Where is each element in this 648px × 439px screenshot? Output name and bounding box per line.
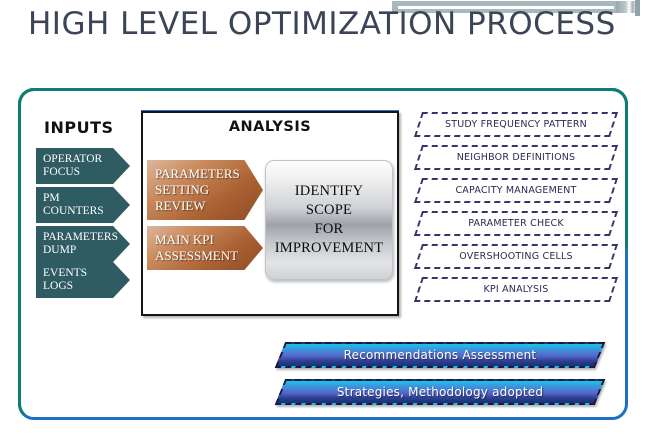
input-chip-line2: LOGS <box>43 280 116 293</box>
output-banner-strategies-methodology[interactable]: Strategies, Methodology adopted <box>275 379 606 405</box>
analysis-step-main-kpi-assessment[interactable]: MAIN KPI ASSESSMENT <box>147 226 263 270</box>
analysis-outcome-box[interactable]: IDENTIFY SCOPE FOR IMPROVEMENT <box>265 160 393 280</box>
input-chip-events-logs[interactable]: EVENTS LOGS <box>36 262 130 298</box>
checklist-item-label: OVERSHOOTING CELLS <box>420 246 612 267</box>
band-edge-cap <box>635 0 640 16</box>
input-chip-pm-counters[interactable]: PM COUNTERS <box>36 187 130 223</box>
input-chip-parameters-dump[interactable]: PARAMETERS DUMP <box>36 226 130 262</box>
analysis-step-line2: ASSESSMENT <box>155 248 245 264</box>
page-title: HIGH LEVEL OPTIMIZATION PROCESS <box>28 6 616 42</box>
checklist-item-label: KPI ANALYSIS <box>420 279 612 300</box>
analysis-step-line1: PARAMETERS <box>155 166 245 182</box>
outcome-line4: IMPROVEMENT <box>275 239 384 258</box>
checklist-item-label: PARAMETER CHECK <box>420 213 612 234</box>
analysis-step-parameters-setting-review[interactable]: PARAMETERS SETTING REVIEW <box>147 160 263 220</box>
checklist-item-study-frequency-pattern[interactable]: STUDY FREQUENCY PATTERN <box>414 112 618 137</box>
output-banner-label: Recommendations Assessment <box>282 344 598 366</box>
input-chip-line1: PM <box>43 192 116 205</box>
analysis-step-line3: REVIEW <box>155 198 245 214</box>
outcome-line1: IDENTIFY <box>275 182 384 201</box>
input-chip-line2: COUNTERS <box>43 205 116 218</box>
checklist-item-parameter-check[interactable]: PARAMETER CHECK <box>414 211 618 236</box>
input-chip-line1: OPERATOR <box>43 153 116 166</box>
analysis-outcome-text: IDENTIFY SCOPE FOR IMPROVEMENT <box>275 182 384 258</box>
outcome-line2: SCOPE <box>275 201 384 220</box>
input-chip-line2: DUMP <box>43 244 116 257</box>
checklist-item-capacity-management[interactable]: CAPACITY MANAGEMENT <box>414 178 618 203</box>
checklist-item-overshooting-cells[interactable]: OVERSHOOTING CELLS <box>414 244 618 269</box>
checklist-item-neighbor-definitions[interactable]: NEIGHBOR DEFINITIONS <box>414 145 618 170</box>
analysis-step-line2: SETTING <box>155 182 245 198</box>
output-banner-recommendations-assessment[interactable]: Recommendations Assessment <box>275 342 606 368</box>
checklist-item-label: STUDY FREQUENCY PATTERN <box>420 114 612 135</box>
checklist-item-label: NEIGHBOR DEFINITIONS <box>420 147 612 168</box>
checklist-item-kpi-analysis[interactable]: KPI ANALYSIS <box>414 277 618 302</box>
inputs-heading: INPUTS <box>44 118 114 137</box>
analysis-step-line1: MAIN KPI <box>155 232 245 248</box>
output-banner-label: Strategies, Methodology adopted <box>282 381 598 403</box>
analysis-title: ANALYSIS <box>141 119 399 135</box>
outcome-line3: FOR <box>275 220 384 239</box>
input-chip-operator-focus[interactable]: OPERATOR FOCUS <box>36 148 130 184</box>
checklist-item-label: CAPACITY MANAGEMENT <box>420 180 612 201</box>
input-chip-line1: EVENTS <box>43 267 116 280</box>
input-chip-line2: FOCUS <box>43 166 116 179</box>
input-chip-line1: PARAMETERS <box>43 231 116 244</box>
